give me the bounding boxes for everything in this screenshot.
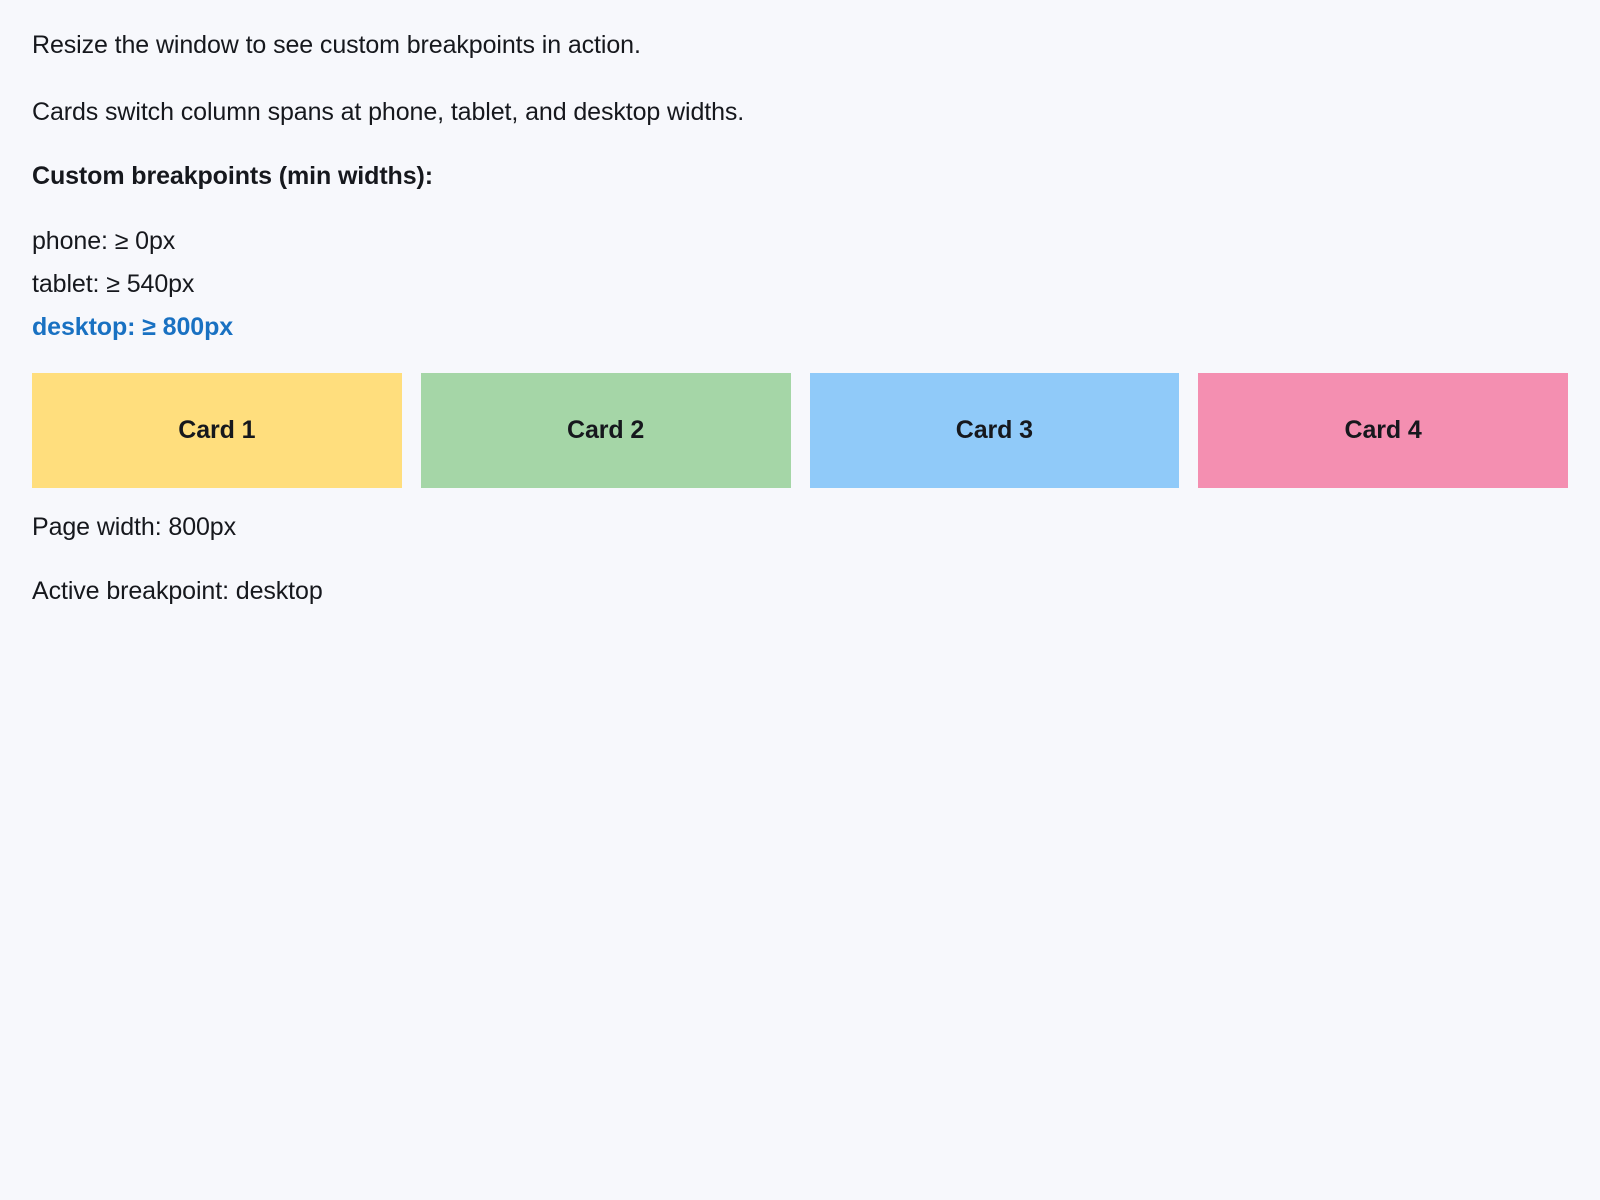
intro-line-1: Resize the window to see custom breakpoi… — [32, 30, 1568, 61]
cards-grid: Card 1 Card 2 Card 3 Card 4 — [32, 373, 1568, 488]
card-4-label: Card 4 — [1345, 416, 1422, 445]
card-3[interactable]: Card 3 — [810, 373, 1180, 488]
card-1-label: Card 1 — [178, 416, 255, 445]
intro-line-2: Cards switch column spans at phone, tabl… — [32, 97, 1568, 128]
card-2[interactable]: Card 2 — [421, 373, 791, 488]
card-3-label: Card 3 — [956, 416, 1033, 445]
breakpoint-item-phone: phone: ≥ 0px — [32, 220, 1568, 263]
card-4[interactable]: Card 4 — [1198, 373, 1568, 488]
breakpoint-item-desktop: desktop: ≥ 800px — [32, 306, 1568, 349]
card-1[interactable]: Card 1 — [32, 373, 402, 488]
card-2-label: Card 2 — [567, 416, 644, 445]
breakpoints-heading: Custom breakpoints (min widths): — [32, 161, 1568, 192]
breakpoints-list: phone: ≥ 0px tablet: ≥ 540px desktop: ≥ … — [32, 220, 1568, 349]
active-breakpoint-status: Active breakpoint: desktop — [32, 576, 1568, 607]
breakpoint-item-tablet: tablet: ≥ 540px — [32, 263, 1568, 306]
page-width-status: Page width: 800px — [32, 512, 1568, 543]
page-root: Resize the window to see custom breakpoi… — [0, 0, 1600, 1200]
